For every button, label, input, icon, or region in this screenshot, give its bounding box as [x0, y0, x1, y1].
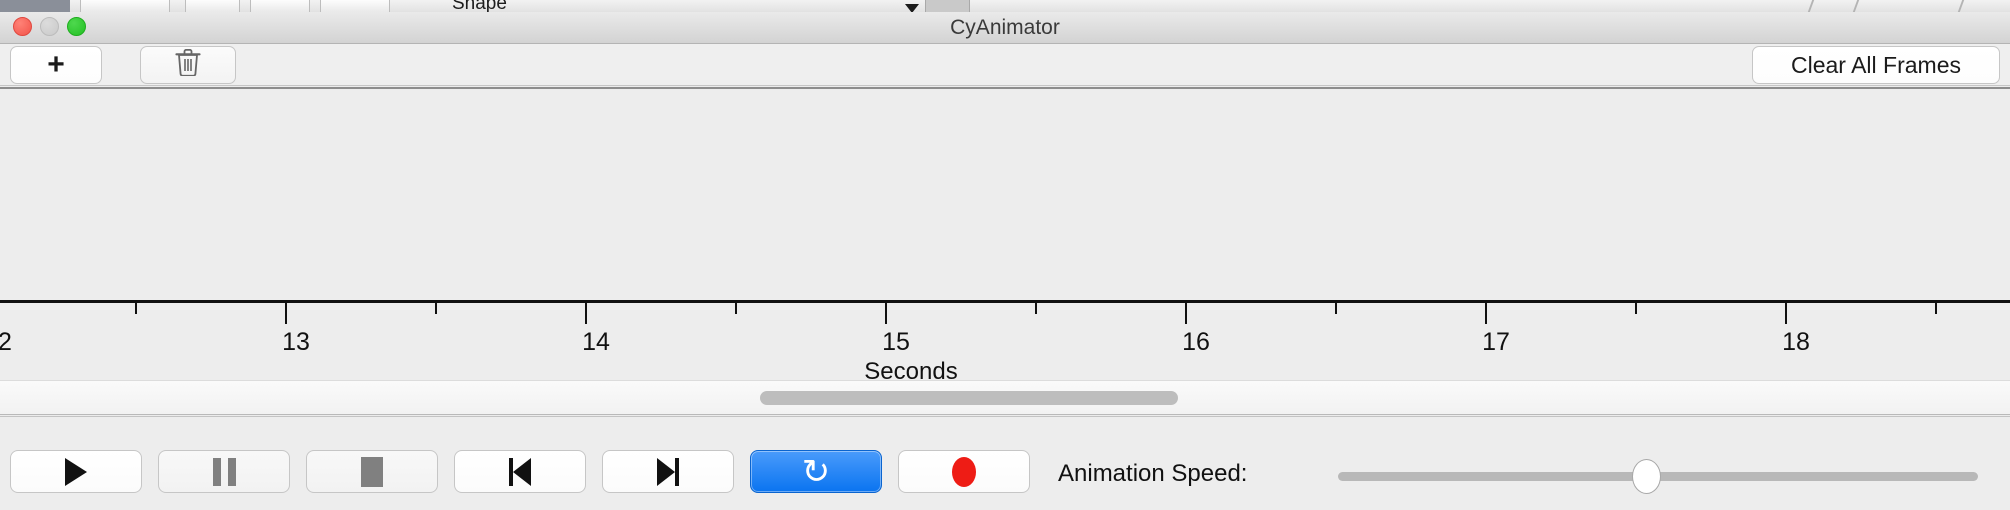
skip-next-icon — [657, 458, 679, 486]
background-tab — [250, 0, 310, 12]
axis-tick-minor — [1935, 303, 1937, 314]
timeline-horizontal-scrollbar[interactable] — [0, 380, 2010, 415]
axis-tick-minor — [435, 303, 437, 314]
timeline-frames-panel[interactable]: MCM1 — [0, 87, 2010, 322]
axis-tick-minor — [135, 303, 137, 314]
delete-frame-button[interactable] — [140, 46, 236, 84]
add-frame-button[interactable]: + — [10, 46, 102, 84]
timeline-axis[interactable]: 2 13 14 15 16 17 18 Seconds — [0, 300, 2010, 380]
stop-button[interactable] — [306, 450, 438, 493]
record-button[interactable] — [898, 450, 1030, 493]
axis-tick-minor — [1635, 303, 1637, 314]
loop-button[interactable]: ↻ — [750, 450, 882, 493]
background-tab — [80, 0, 170, 12]
window-title: CyAnimator — [0, 12, 2010, 44]
background-dark-block — [0, 0, 70, 12]
axis-tick-major — [1785, 303, 1787, 324]
pause-icon — [213, 458, 236, 486]
background-tab — [320, 0, 390, 12]
toolbar: + Clear All Frames — [0, 44, 2010, 86]
background-divider — [1958, 0, 1964, 12]
playback-bar: ↻ Animation Speed: — [0, 416, 2010, 510]
background-tab — [185, 0, 240, 12]
axis-tick-label: 13 — [282, 328, 310, 357]
axis-tick-minor — [735, 303, 737, 314]
clear-all-frames-label: Clear All Frames — [1791, 52, 1961, 79]
record-icon — [952, 457, 976, 487]
play-icon — [65, 458, 87, 486]
loop-icon: ↻ — [802, 455, 831, 489]
play-button[interactable] — [10, 450, 142, 493]
background-shape-label: Shape — [452, 0, 507, 12]
window-titlebar: CyAnimator — [0, 12, 2010, 44]
skip-previous-button[interactable] — [454, 450, 586, 493]
background-divider — [1853, 0, 1859, 12]
background-divider — [1808, 0, 1814, 12]
axis-tick-major — [1485, 303, 1487, 324]
axis-baseline — [0, 300, 2010, 303]
pause-button[interactable] — [158, 450, 290, 493]
background-gray-block — [925, 0, 970, 12]
axis-tick-label: 14 — [582, 328, 610, 357]
animation-speed-label: Animation Speed: — [1058, 460, 1247, 488]
axis-tick-minor — [1335, 303, 1337, 314]
axis-tick-major — [285, 303, 287, 324]
background-caret-icon — [905, 4, 919, 12]
skip-next-button[interactable] — [602, 450, 734, 493]
axis-tick-label: 18 — [1782, 328, 1810, 357]
animation-speed-slider-knob[interactable] — [1632, 459, 1661, 494]
clear-all-frames-button[interactable]: Clear All Frames — [1752, 46, 2000, 84]
trash-icon — [175, 48, 201, 82]
axis-tick-label: 16 — [1182, 328, 1210, 357]
axis-tick-label: 2 — [0, 328, 12, 357]
scrollbar-thumb[interactable] — [760, 391, 1178, 405]
axis-tick-label: 17 — [1482, 328, 1510, 357]
axis-tick-major — [585, 303, 587, 324]
axis-tick-major — [1185, 303, 1187, 324]
skip-previous-icon — [509, 458, 531, 486]
plus-icon: + — [47, 50, 65, 80]
background-window-strip: Shape — [0, 0, 2010, 12]
axis-tick-minor — [1035, 303, 1037, 314]
axis-tick-major — [885, 303, 887, 324]
axis-tick-label: 15 — [882, 328, 910, 357]
stop-icon — [361, 457, 383, 487]
